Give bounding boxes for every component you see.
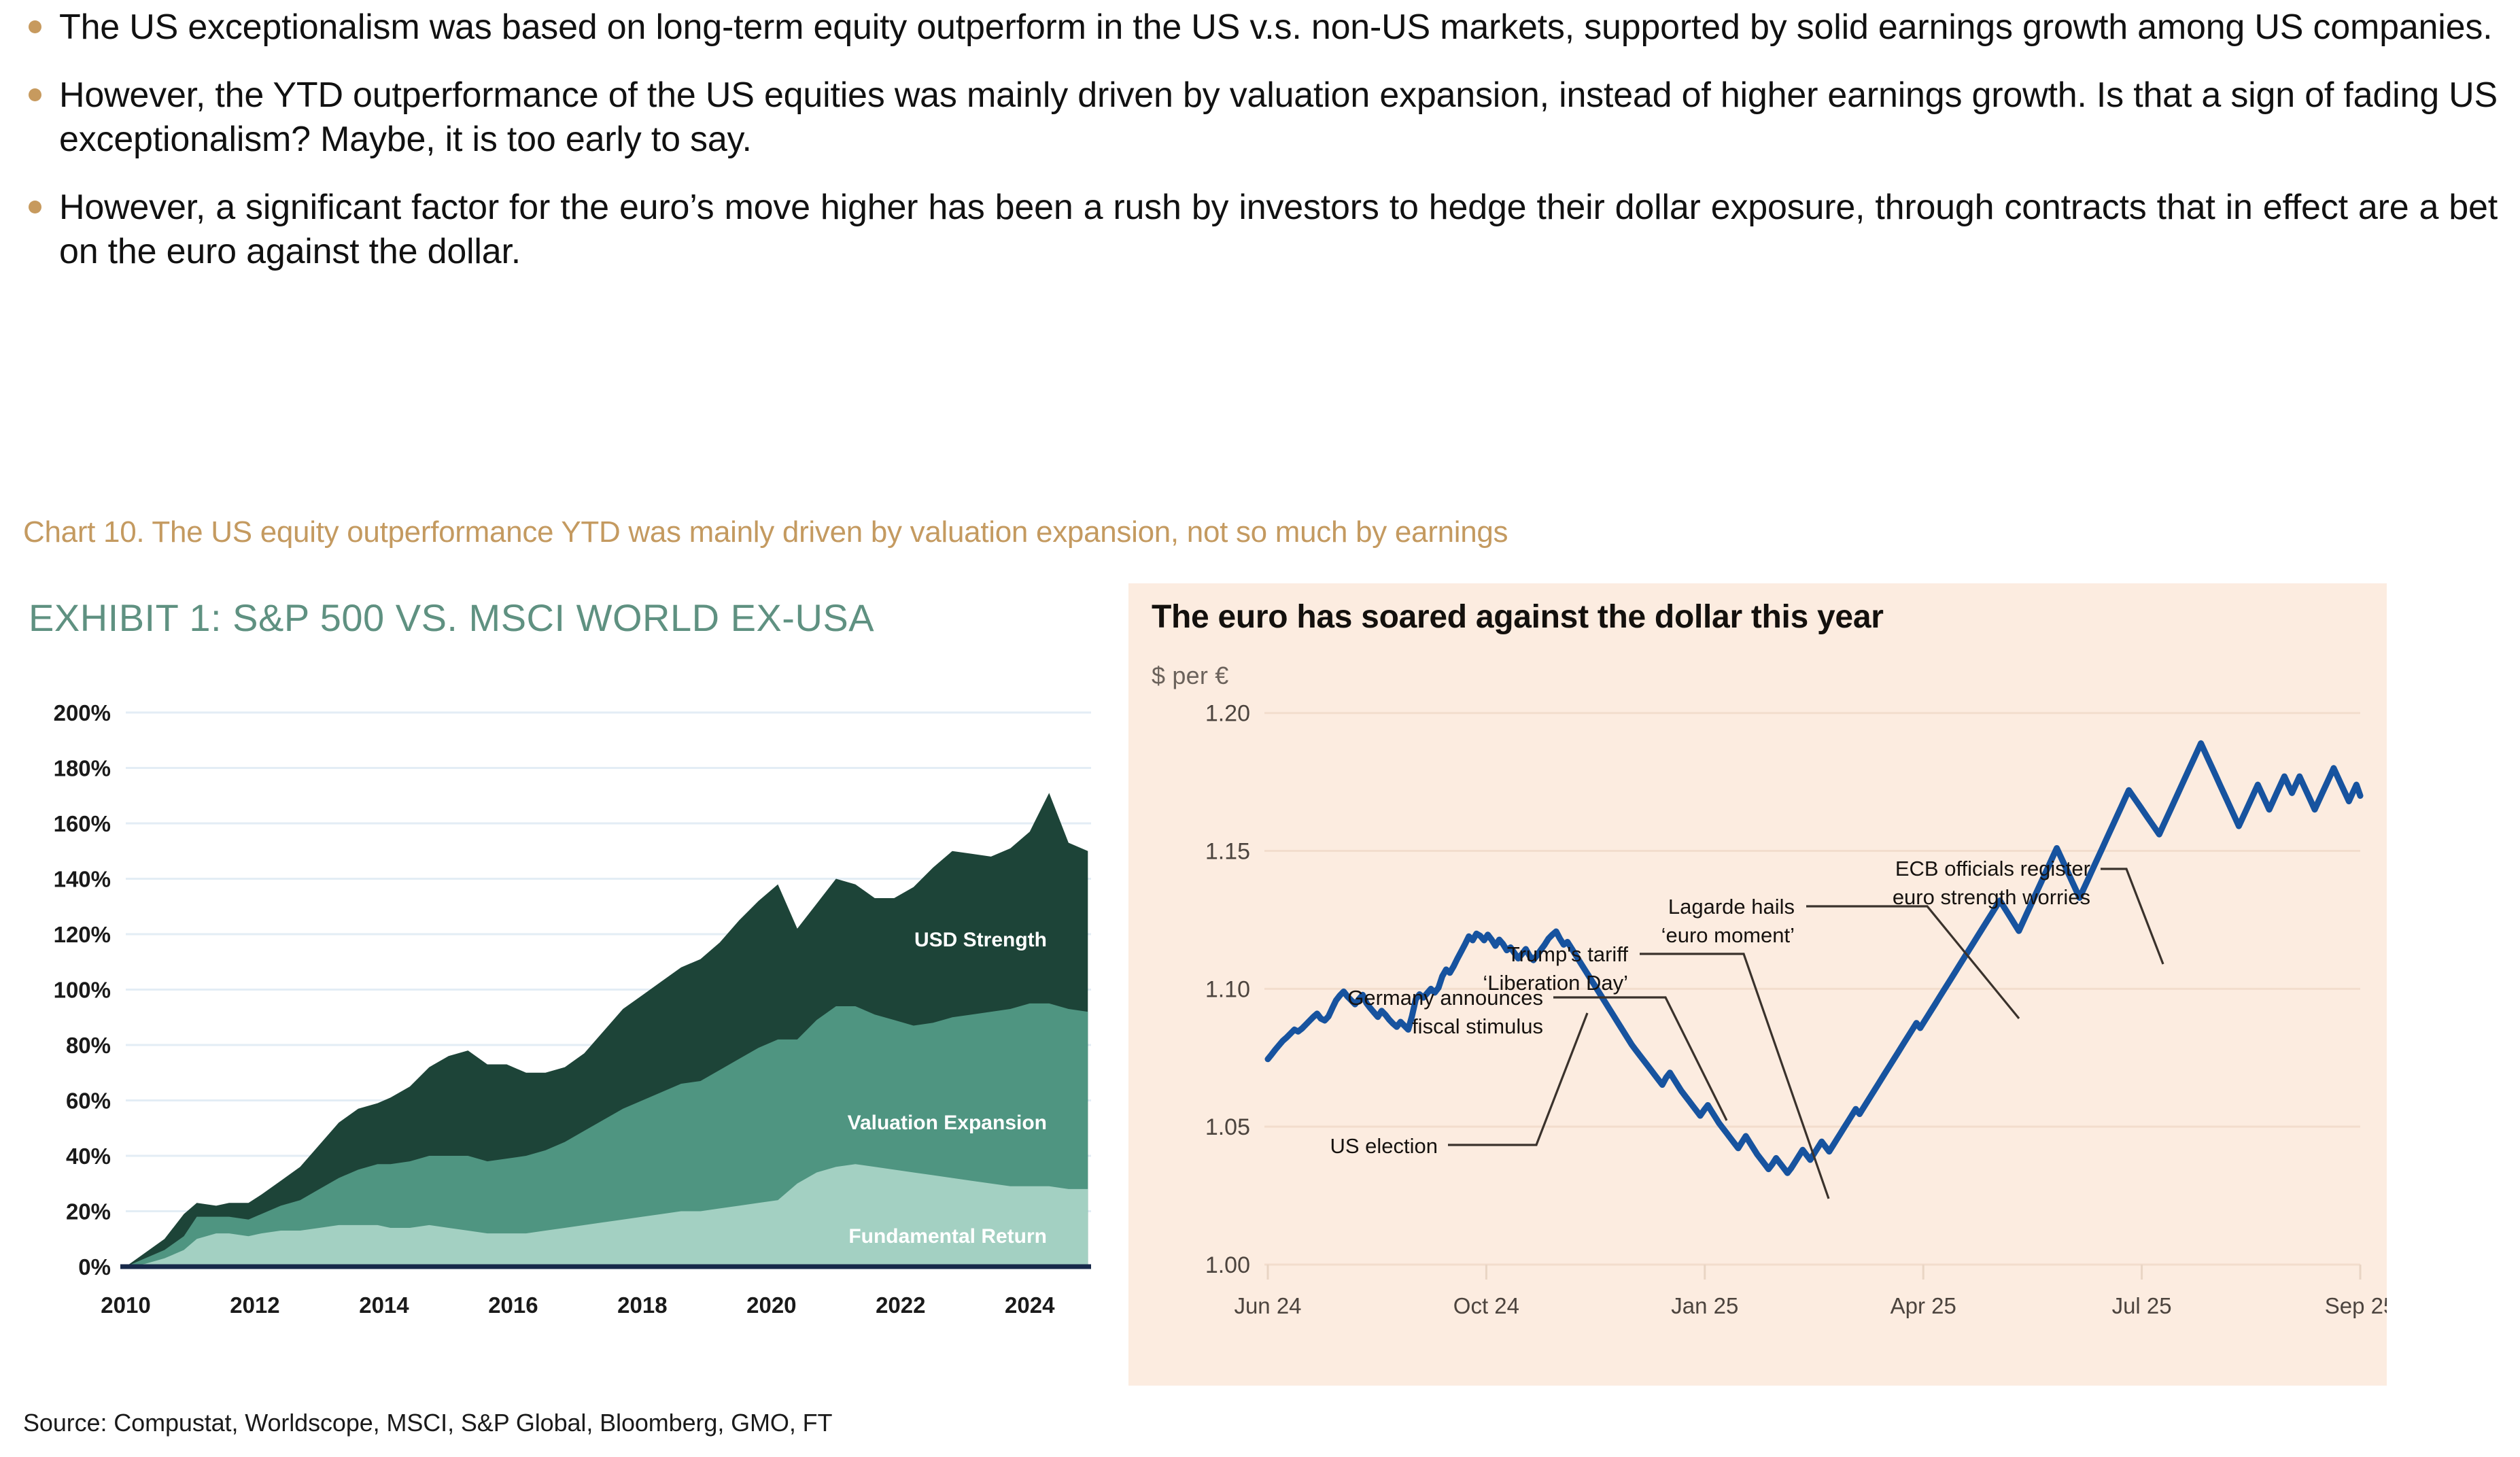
band-label-valuation-expansion: Valuation Expansion <box>848 1112 1047 1134</box>
x-axis-tick-label: 2016 <box>488 1292 538 1318</box>
euro-usd-line <box>1268 743 2360 1173</box>
y-axis-tick-label: 140% <box>54 867 111 892</box>
x-axis-tick-label: 2024 <box>1005 1292 1055 1318</box>
annotation-line: US election <box>1330 1134 1438 1158</box>
y-axis-tick-label: 160% <box>54 811 111 836</box>
band-label-usd-strength: USD Strength <box>914 929 1047 951</box>
stacked-area-svg: 0%20%40%60%80%100%120%140%160%180%200%20… <box>7 692 1115 1379</box>
annotation-line: euro strength worries <box>1893 885 2090 909</box>
euro-line-svg: 1.001.051.101.151.20Jun 24Oct 24Jan 25Ap… <box>1128 583 2387 1386</box>
exhibit-panel: EXHIBIT 1: S&P 500 VS. MSCI WORLD EX-USA… <box>7 583 1115 1386</box>
y-axis-tick-label: 120% <box>54 922 111 947</box>
x-axis-tick-label: 2020 <box>746 1292 796 1318</box>
y-axis-tick-label: 200% <box>54 700 111 725</box>
annotation-line: ECB officials register <box>1895 857 2090 880</box>
ft-y-axis-tick-label: 1.20 <box>1205 701 1250 727</box>
list-item: The US exceptionalism was based on long-… <box>23 5 2498 50</box>
ft-x-axis-tick-label: Jun 24 <box>1234 1293 1301 1318</box>
ft-x-axis-tick-label: Oct 24 <box>1453 1293 1519 1318</box>
ft-euro-panel: The euro has soared against the dollar t… <box>1128 583 2387 1386</box>
bullet-dot-icon <box>29 88 41 101</box>
x-axis-tick-label: 2010 <box>101 1292 150 1318</box>
bullet-text: However, the YTD outperformance of the U… <box>59 73 2498 162</box>
bullet-text: However, a significant factor for the eu… <box>59 186 2498 275</box>
annotation-line: fiscal stimulus <box>1412 1014 1543 1038</box>
y-axis-tick-label: 60% <box>66 1089 111 1114</box>
y-axis-tick-label: 0% <box>78 1254 111 1280</box>
y-axis-tick-label: 40% <box>66 1144 111 1169</box>
ft-x-axis-tick-label: Jan 25 <box>1671 1293 1738 1318</box>
annotation-line: Lagarde hails <box>1668 895 1795 919</box>
slide-page: The US exceptionalism was based on long-… <box>0 0 2520 1457</box>
list-item: However, the YTD outperformance of the U… <box>23 73 2498 162</box>
band-label-fundamental-return: Fundamental Return <box>848 1225 1047 1248</box>
ft-x-axis-tick-label: Sep 25 <box>2325 1293 2387 1318</box>
source-note: Source: Compustat, Worldscope, MSCI, S&P… <box>23 1409 832 1437</box>
stacked-area-chart: 0%20%40%60%80%100%120%140%160%180%200%20… <box>7 692 1115 1379</box>
ft-x-axis-tick-label: Jul 25 <box>2112 1293 2172 1318</box>
list-item: However, a significant factor for the eu… <box>23 186 2498 275</box>
ft-y-axis-tick-label: 1.10 <box>1205 976 1250 1002</box>
charts-row: EXHIBIT 1: S&P 500 VS. MSCI WORLD EX-USA… <box>0 583 2520 1386</box>
annotation-line: ‘Liberation Day’ <box>1483 971 1628 995</box>
x-axis-tick-label: 2012 <box>230 1292 279 1318</box>
annotation-line: Trump's tariff <box>1507 942 1629 966</box>
bullet-list: The US exceptionalism was based on long-… <box>23 5 2498 298</box>
x-axis-tick-label: 2022 <box>876 1292 925 1318</box>
y-axis-tick-label: 100% <box>54 978 111 1003</box>
exhibit-title: EXHIBIT 1: S&P 500 VS. MSCI WORLD EX-USA <box>29 596 874 640</box>
bullet-dot-icon <box>29 20 41 33</box>
chart-caption: Chart 10. The US equity outperformance Y… <box>23 515 1508 549</box>
y-axis-tick-label: 180% <box>54 756 111 781</box>
ft-y-axis-tick-label: 1.15 <box>1205 839 1250 865</box>
bullet-text: The US exceptionalism was based on long-… <box>59 5 2498 50</box>
ft-x-axis-tick-label: Apr 25 <box>1891 1293 1956 1318</box>
y-axis-tick-label: 80% <box>66 1033 111 1058</box>
x-axis-tick-label: 2014 <box>359 1292 409 1318</box>
ft-y-axis-tick-label: 1.00 <box>1205 1252 1250 1278</box>
y-axis-tick-label: 20% <box>66 1199 111 1224</box>
ft-y-axis-tick-label: 1.05 <box>1205 1114 1250 1140</box>
annotation-line: ‘euro moment’ <box>1661 923 1795 947</box>
euro-line-chart: 1.001.051.101.151.20Jun 24Oct 24Jan 25Ap… <box>1128 583 2387 1386</box>
annotation-germany-stimulus: Germany announcesfiscal stimulus <box>1347 986 1727 1120</box>
annotation-leader-line <box>2101 869 2163 964</box>
bullet-dot-icon <box>29 201 41 213</box>
x-axis-tick-label: 2018 <box>617 1292 667 1318</box>
